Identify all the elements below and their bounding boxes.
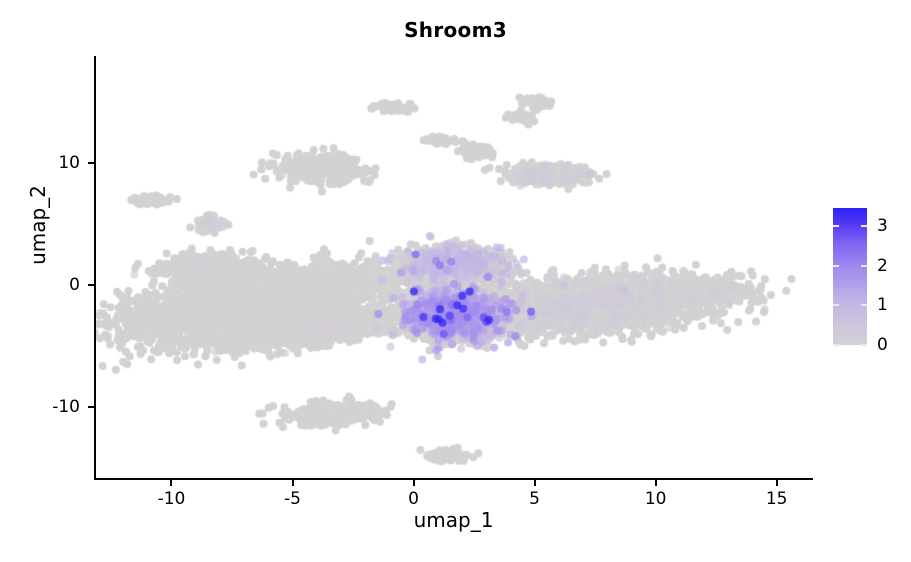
scatter-points [94,56,813,480]
axis-spine-bottom [94,478,813,480]
x-tick-label: -5 [284,489,301,509]
colorbar-tick [833,225,839,227]
colorbar-tick-label: 0 [877,335,888,355]
colorbar-tick [833,265,839,267]
y-tick-label: 10 [58,153,80,173]
x-tick-label: -10 [158,489,186,509]
colorbar-tick [861,265,867,267]
colorbar-tick [861,304,867,306]
colorbar-tick [833,344,839,346]
y-tick [88,284,94,286]
y-axis-label: umap_2 [26,105,50,345]
y-tick-label: 0 [69,275,80,295]
colorbar: 0123 [833,208,867,345]
y-tick [88,406,94,408]
scatter-canvas-layer [94,56,813,480]
colorbar-gradient [833,208,867,345]
colorbar-tick [833,304,839,306]
colorbar-tick [861,344,867,346]
x-tick-label: 0 [408,489,419,509]
colorbar-tick-label: 3 [877,216,888,236]
x-tick-label: 15 [766,489,788,509]
y-tick [88,162,94,164]
x-tick [170,480,172,486]
x-axis-label: umap_1 [94,508,813,532]
x-tick-label: 5 [529,489,540,509]
x-tick [776,480,778,486]
x-tick [534,480,536,486]
page-title: Shroom3 [0,18,911,42]
y-tick-label: -10 [52,397,80,417]
colorbar-tick-label: 2 [877,256,888,276]
plot-axes: -10-5051015 100-10 [94,56,813,480]
figure-root: Shroom3 -10-5051015 100-10 umap_1 umap_2… [0,0,911,562]
colorbar-tick [861,225,867,227]
x-tick [413,480,415,486]
x-tick-label: 10 [645,489,667,509]
colorbar-tick-label: 1 [877,295,888,315]
axis-spine-left [94,56,96,480]
x-tick [292,480,294,486]
x-tick [655,480,657,486]
